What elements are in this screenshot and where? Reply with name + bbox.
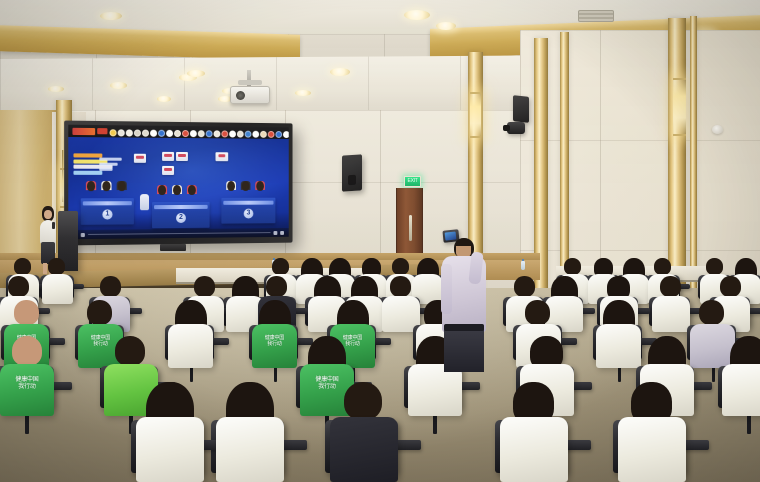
- audience-member: 健康中国我行动: [0, 336, 54, 412]
- audience-member: [618, 382, 686, 477]
- audience-head: [12, 336, 42, 366]
- audience-member: 健康中国我行动: [252, 300, 297, 364]
- tshirt-slogan-line1: 健康中国: [252, 336, 297, 341]
- ceiling-projector: [230, 86, 270, 104]
- podium-nameplate: [83, 201, 132, 205]
- presenter-face: [44, 210, 52, 219]
- projector-lens-icon: [236, 91, 245, 100]
- answer-card-mark: [178, 154, 185, 157]
- contestant-head: [158, 185, 166, 195]
- participant-avatar-icon[interactable]: [268, 130, 275, 137]
- videographer-trousers: [444, 328, 484, 372]
- participant-avatar-icon[interactable]: [182, 130, 189, 137]
- recessed-downlight: [110, 82, 127, 89]
- recessed-downlight: [187, 70, 205, 77]
- audience-shirt: [330, 417, 398, 482]
- caption-line: [99, 163, 117, 166]
- audience-head: [87, 300, 112, 325]
- audience-member: [330, 382, 398, 477]
- audience-head: [720, 276, 741, 297]
- video-progress-slider[interactable]: [88, 232, 271, 235]
- broadcast-contestant: [256, 181, 264, 199]
- broadcast-contestant: [118, 181, 126, 199]
- participant-avatar-icon[interactable]: [150, 129, 157, 136]
- recessed-downlight: [48, 86, 64, 92]
- audience-member: [722, 336, 760, 412]
- stage-prop-vase: [140, 194, 149, 210]
- audience-shirt: [168, 324, 213, 368]
- contestant-head: [188, 185, 196, 195]
- answer-card-mark: [136, 156, 143, 159]
- contestant-head: [256, 181, 264, 191]
- participant-avatar-icon[interactable]: [134, 129, 141, 136]
- gold-pilaster-wall-sconce: [470, 92, 481, 138]
- audience-member: [652, 276, 690, 329]
- recessed-downlight: [157, 96, 171, 102]
- contestant-head: [87, 181, 95, 191]
- audience-head: [344, 382, 382, 420]
- audience-head: [392, 258, 409, 275]
- broadcast-answer-card: [215, 152, 228, 161]
- audience-member: [596, 300, 641, 364]
- participant-avatar-icon[interactable]: [166, 129, 173, 136]
- recessed-downlight: [404, 10, 430, 20]
- broadcast-contestant: [227, 181, 235, 199]
- handheld-microphone: [52, 222, 55, 229]
- video-conference-participant-strip[interactable]: [109, 127, 284, 139]
- podium-team-number: 1: [102, 209, 112, 219]
- video-player-controls[interactable]: [68, 228, 288, 239]
- participant-avatar-icon[interactable]: [190, 130, 197, 137]
- display-wall-bracket: [160, 244, 186, 251]
- volume-icon[interactable]: [274, 231, 278, 235]
- wall-mounted-security-camera: [507, 122, 525, 134]
- wall-mounted-loudspeaker: [513, 95, 529, 123]
- broadcast-contestant: [188, 185, 196, 203]
- recessed-downlight: [100, 12, 122, 20]
- recessed-downlight: [330, 68, 350, 76]
- broadcast-contestant: [102, 181, 110, 199]
- participant-avatar-icon[interactable]: [142, 129, 149, 136]
- broadcast-subcaption-block: [99, 158, 121, 171]
- gold-pilaster-wall-sconce: [673, 78, 686, 136]
- participant-avatar-icon[interactable]: [214, 130, 221, 137]
- audience-head: [8, 276, 29, 297]
- audience-head: [654, 258, 671, 275]
- videographer-belt: [444, 324, 484, 331]
- broadcast-team-podium: 3: [221, 198, 275, 224]
- podium-nameplate: [224, 201, 274, 205]
- broadcast-contestant: [87, 181, 95, 199]
- video-conference-toolbar[interactable]: [68, 125, 288, 139]
- contestant-head: [227, 181, 235, 191]
- standing-man-with-camcorder: [440, 232, 488, 372]
- participant-avatar-icon[interactable]: [237, 130, 244, 137]
- audience-member: [382, 276, 420, 329]
- contestant-head: [242, 181, 250, 191]
- participant-avatar-icon[interactable]: [206, 130, 213, 137]
- audience-member: [168, 300, 213, 364]
- participant-avatar-icon[interactable]: [109, 129, 116, 136]
- audience-green-campaign-tshirt: 健康中国我行动: [0, 364, 54, 416]
- tshirt-slogan-line1: 健康中国: [0, 378, 54, 383]
- tshirt-slogan-line2: 我行动: [252, 342, 297, 347]
- broadcast-answer-card: [162, 152, 174, 161]
- emergency-exit-sign: EXIT: [404, 176, 421, 187]
- audience-member: [136, 382, 204, 477]
- audience-head: [514, 276, 535, 297]
- audience-shirt: [722, 364, 760, 416]
- broadcast-contestant: [242, 181, 250, 199]
- pause-icon[interactable]: [81, 232, 85, 236]
- audience-member: [216, 382, 284, 477]
- participant-avatar-icon[interactable]: [126, 129, 133, 136]
- participant-avatar-icon[interactable]: [198, 130, 205, 137]
- conference-hall-photo: EXIT 123: [0, 0, 760, 482]
- participant-avatar-icon[interactable]: [118, 129, 125, 136]
- audience-head: [706, 258, 723, 275]
- participant-avatar-icon[interactable]: [283, 131, 289, 138]
- participant-avatar-icon[interactable]: [221, 130, 228, 137]
- projector-mount-bracket: [238, 80, 262, 85]
- podium-team-number: 3: [244, 209, 254, 219]
- recessed-downlight: [436, 22, 456, 30]
- broadcast-answer-card: [134, 154, 146, 163]
- audience-head: [699, 300, 724, 325]
- podium-team-number: 2: [176, 213, 186, 223]
- audience-member: [500, 382, 568, 477]
- audience-head: [660, 276, 681, 297]
- contestant-head: [118, 181, 126, 191]
- wall-mounted-lcd-display[interactable]: 123: [64, 121, 292, 246]
- tshirt-slogan-line2: 我行动: [0, 385, 54, 390]
- audience-head: [48, 258, 65, 275]
- participant-avatar-icon[interactable]: [260, 130, 267, 137]
- participant-avatar-icon[interactable]: [158, 129, 165, 136]
- fullscreen-icon[interactable]: [280, 230, 284, 234]
- contestant-head: [102, 181, 110, 191]
- audience-green-campaign-tshirt: 健康中国我行动: [252, 324, 297, 368]
- ceiling-air-vent: [578, 10, 614, 22]
- audience-shirt: [136, 417, 204, 482]
- contestant-head: [173, 185, 181, 195]
- audience-shirt: [618, 417, 686, 482]
- audience-head: [266, 276, 287, 297]
- audience-head: [194, 276, 215, 297]
- broadcast-contestant: [173, 185, 181, 203]
- podium-nameplate: [154, 205, 207, 209]
- participant-avatar-icon[interactable]: [275, 131, 282, 138]
- app-badge-icon: [97, 128, 107, 134]
- ceiling-smoke-detector: [712, 125, 723, 134]
- audience-head: [564, 258, 581, 275]
- caption-line: [99, 168, 112, 171]
- caption-line: [73, 170, 102, 174]
- audience-head: [100, 276, 121, 297]
- audience-head: [390, 276, 411, 297]
- recessed-downlight: [295, 90, 311, 96]
- participant-avatar-icon[interactable]: [252, 130, 259, 137]
- broadcast-answer-card: [176, 152, 188, 161]
- audience-head: [115, 336, 145, 366]
- participant-avatar-icon[interactable]: [245, 130, 252, 137]
- broadcast-contestant: [158, 185, 166, 203]
- audience-head: [525, 300, 550, 325]
- broadcast-team-podium: 2: [152, 202, 210, 228]
- broadcast-team-podium: 1: [81, 198, 134, 225]
- participant-avatar-icon[interactable]: [174, 129, 181, 136]
- audience-shirt: [596, 324, 641, 368]
- audience-shirt: [652, 296, 690, 332]
- participant-avatar-icon[interactable]: [229, 130, 236, 137]
- water-bottle: [521, 261, 525, 270]
- audience-member: [42, 258, 73, 302]
- audience-shirt: [216, 417, 284, 482]
- audience-shirt: [500, 417, 568, 482]
- wall-mounted-loudspeaker: [342, 154, 362, 191]
- broadcast-answer-card: [162, 166, 174, 175]
- app-logo-icon: [72, 127, 95, 134]
- audience-head: [14, 258, 31, 275]
- answer-card-mark: [164, 154, 171, 157]
- caption-line: [99, 158, 121, 161]
- door-handle[interactable]: [409, 215, 412, 241]
- audience-head: [272, 258, 289, 275]
- audience-head: [14, 300, 39, 325]
- caption-line: [73, 153, 102, 157]
- screen-content: 123: [68, 125, 288, 240]
- answer-card-mark: [218, 154, 226, 157]
- videographer-arm: [441, 264, 452, 314]
- answer-card-mark: [164, 168, 171, 171]
